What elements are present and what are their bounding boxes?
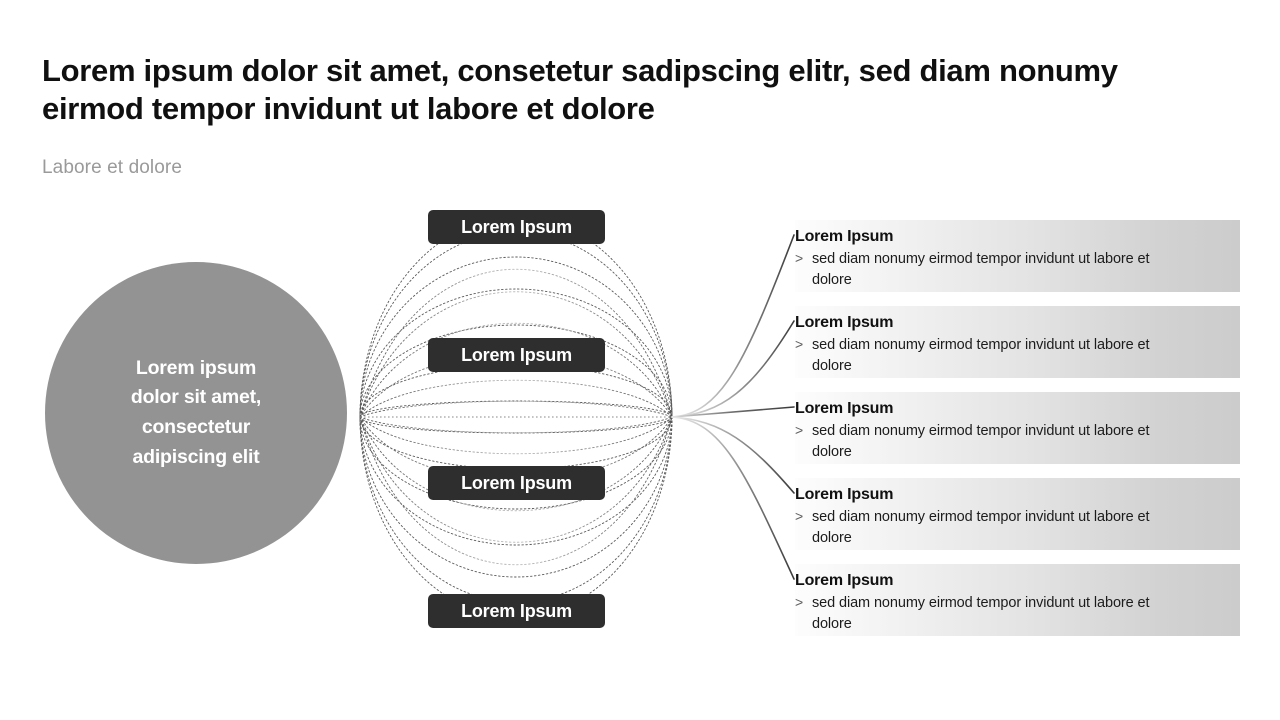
content-block-3-body: > sed diam nonumy eirmod tempor invidunt… (795, 421, 1240, 462)
connector-1 (672, 235, 794, 417)
content-block-3-title: Lorem Ipsum (795, 397, 1240, 420)
content-block-5[interactable]: Lorem Ipsum > sed diam nonumy eirmod tem… (795, 564, 1240, 636)
content-block-4[interactable]: Lorem Ipsum > sed diam nonumy eirmod tem… (795, 478, 1240, 550)
page-subtitle: Labore et dolore (42, 157, 182, 179)
sphere-label-2[interactable]: Lorem Ipsum (428, 338, 605, 372)
connector-2 (672, 321, 794, 417)
page-title: Lorem ipsum dolor sit amet, consetetur s… (42, 52, 1222, 128)
content-block-5-title: Lorem Ipsum (795, 569, 1240, 592)
content-block-5-body: > sed diam nonumy eirmod tempor invidunt… (795, 593, 1240, 634)
content-block-2[interactable]: Lorem Ipsum > sed diam nonumy eirmod tem… (795, 306, 1240, 378)
connector-5 (672, 417, 794, 579)
sphere-label-1[interactable]: Lorem Ipsum (428, 210, 605, 244)
chevron-bullet-icon: > (795, 249, 812, 269)
sphere-label-3-text: Lorem Ipsum (461, 473, 572, 494)
connector-lines (660, 200, 800, 650)
content-block-1-text: sed diam nonumy eirmod tempor invidunt u… (812, 249, 1182, 290)
content-block-3-text: sed diam nonumy eirmod tempor invidunt u… (812, 421, 1182, 462)
content-block-4-text: sed diam nonumy eirmod tempor invidunt u… (812, 507, 1182, 548)
chevron-bullet-icon: > (795, 507, 812, 527)
content-block-4-title: Lorem Ipsum (795, 483, 1240, 506)
hub-circle-label: Lorem ipsum dolor sit amet, consectetur … (131, 354, 261, 473)
content-block-4-body: > sed diam nonumy eirmod tempor invidunt… (795, 507, 1240, 548)
slide-canvas: Lorem ipsum dolor sit amet, consetetur s… (0, 0, 1280, 720)
sphere-label-1-text: Lorem Ipsum (461, 217, 572, 238)
content-block-3[interactable]: Lorem Ipsum > sed diam nonumy eirmod tem… (795, 392, 1240, 464)
content-block-2-text: sed diam nonumy eirmod tempor invidunt u… (812, 335, 1182, 376)
content-block-2-body: > sed diam nonumy eirmod tempor invidunt… (795, 335, 1240, 376)
content-block-1[interactable]: Lorem Ipsum > sed diam nonumy eirmod tem… (795, 220, 1240, 292)
sphere-label-4[interactable]: Lorem Ipsum (428, 594, 605, 628)
content-block-2-title: Lorem Ipsum (795, 311, 1240, 334)
content-block-5-text: sed diam nonumy eirmod tempor invidunt u… (812, 593, 1182, 634)
chevron-bullet-icon: > (795, 593, 812, 613)
chevron-bullet-icon: > (795, 335, 812, 355)
connector-4 (672, 417, 794, 493)
sphere-diagram (352, 200, 688, 640)
sphere-label-2-text: Lorem Ipsum (461, 345, 572, 366)
hub-circle[interactable]: Lorem ipsum dolor sit amet, consectetur … (45, 262, 347, 564)
sphere-label-4-text: Lorem Ipsum (461, 601, 572, 622)
content-block-1-title: Lorem Ipsum (795, 225, 1240, 248)
chevron-bullet-icon: > (795, 421, 812, 441)
sphere-wireframe-icon (352, 200, 688, 640)
connector-3 (672, 407, 794, 417)
content-block-1-body: > sed diam nonumy eirmod tempor invidunt… (795, 249, 1240, 290)
sphere-label-3[interactable]: Lorem Ipsum (428, 466, 605, 500)
